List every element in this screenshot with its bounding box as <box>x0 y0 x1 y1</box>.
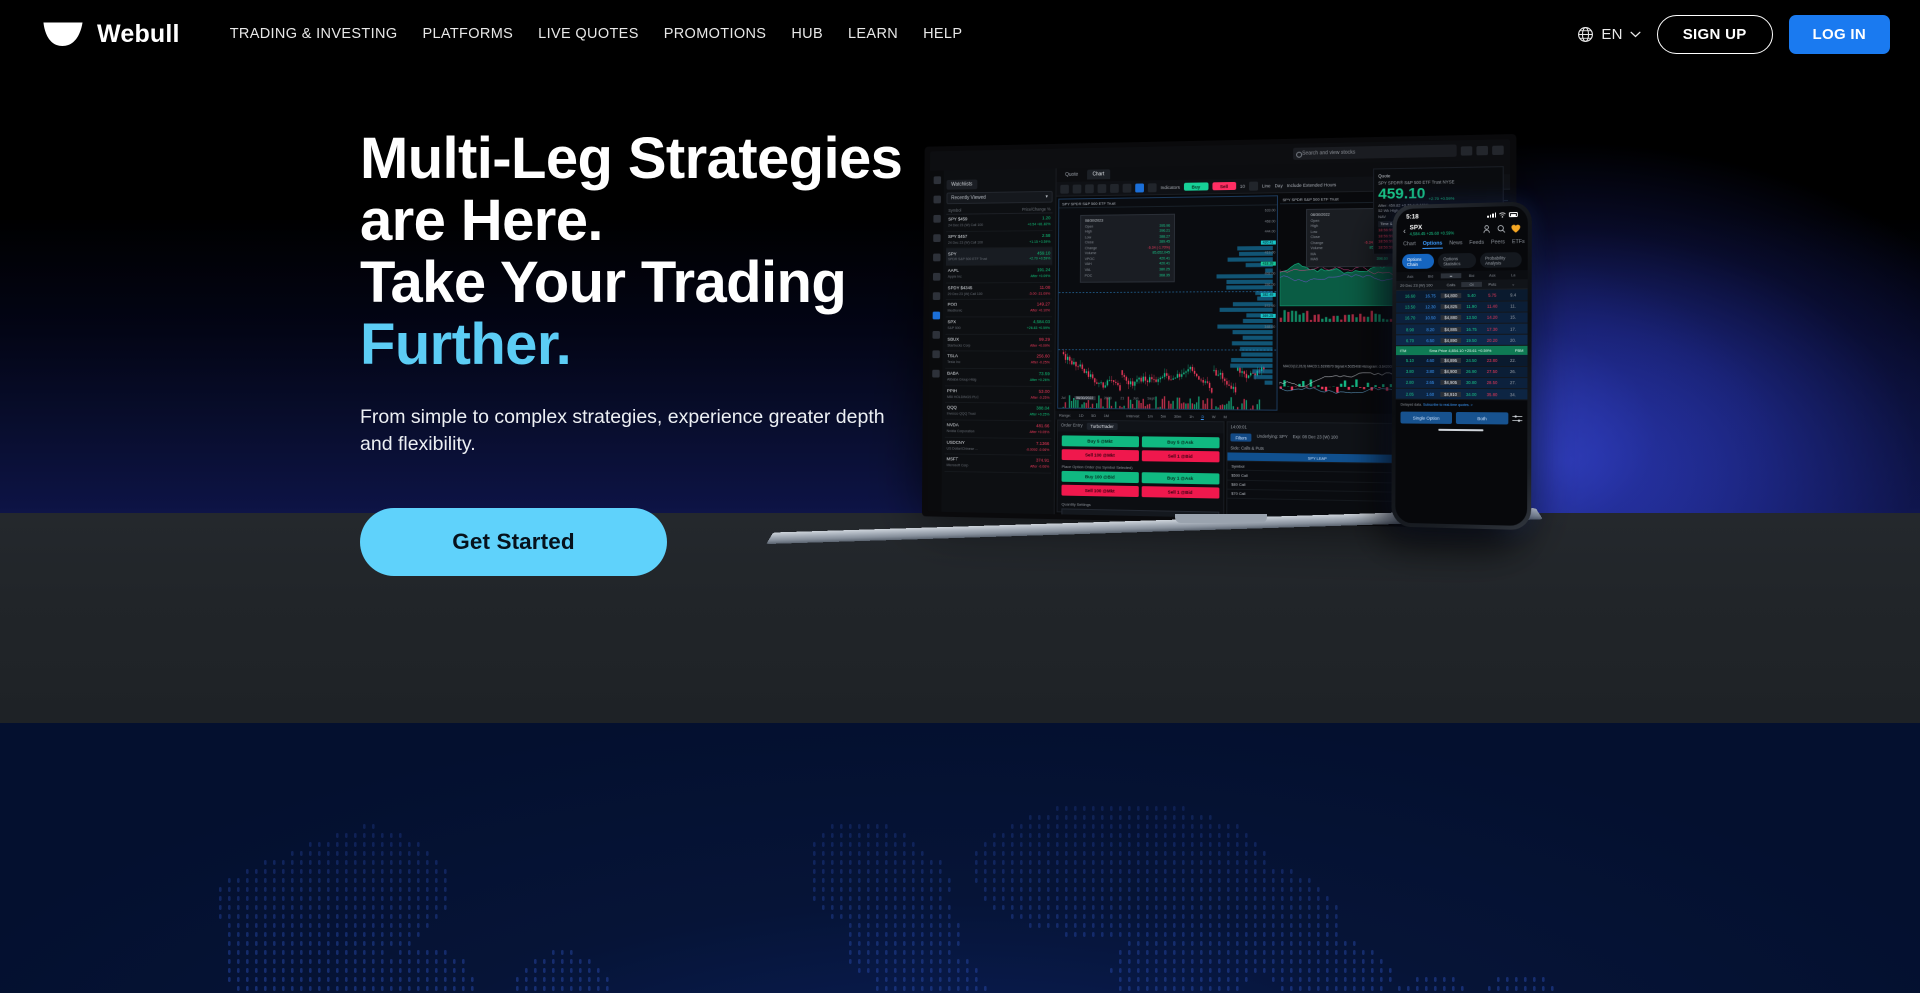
price-label: 444.00 <box>1261 229 1276 233</box>
call-bid: 12.30 <box>1420 305 1440 310</box>
call-bid: 8.20 <box>1420 327 1440 332</box>
text-icon[interactable] <box>1085 184 1094 193</box>
watchlist-change: After +0.09% <box>1030 274 1050 279</box>
tooltip-key: POC <box>1085 273 1093 279</box>
opt-buy-bid-button[interactable]: Buy 100 @Bid <box>1062 471 1139 483</box>
phone-footer: Single Option Both <box>1396 410 1528 427</box>
extended-hours-label[interactable]: Include Extended Hours <box>1287 182 1336 188</box>
headline-accent: Further. <box>360 312 571 377</box>
ts-time: 18:56:59 <box>1378 228 1393 232</box>
range-5d[interactable]: 5D <box>1091 413 1096 418</box>
strike-price: $4,880 <box>1441 315 1462 320</box>
laptop-hinge-notch <box>1175 514 1267 523</box>
watchlist-change: -0.0092 -0.06% <box>1026 447 1049 453</box>
put-ask: 11.40 <box>1482 304 1503 309</box>
get-started-button[interactable]: Get Started <box>360 508 667 576</box>
strike-price: $4,910 <box>1440 391 1461 396</box>
chart-date-axis: Jul 08/30/2022 2023 21 Jun Sept <box>1061 396 1155 401</box>
put-last: 22. <box>1503 358 1524 363</box>
phone-clock: 5:18 <box>1406 213 1419 220</box>
watchlist-change: +26.83 +0.59% <box>1027 326 1050 331</box>
put-last: 17. <box>1503 326 1524 331</box>
gear-icon[interactable] <box>1476 145 1488 154</box>
tab-order-entry[interactable]: Order Entry <box>1061 423 1083 430</box>
put-bid: 24.50 <box>1461 358 1482 363</box>
language-label: EN <box>1601 26 1622 43</box>
put-bid: 30.80 <box>1461 380 1482 385</box>
interval-w[interactable]: W <box>1212 414 1216 419</box>
put-bid: 13.50 <box>1461 315 1482 320</box>
phone-option-row[interactable]: 16.7010.50$4,88013.5014.2015. <box>1396 312 1528 324</box>
grid-icon[interactable] <box>1098 184 1107 193</box>
phone-option-row[interactable]: 2.802.65$4,90530.8028.5027. <box>1396 378 1528 390</box>
watchlist-change: After -0.25% <box>1031 395 1050 400</box>
price-label-poc: 382.49 <box>1261 293 1276 297</box>
sign-up-button[interactable]: SIGN UP <box>1657 15 1773 54</box>
top-navigation: Webull TRADING & INVESTINGPLATFORMSLIVE … <box>0 0 1920 68</box>
phone-screen: 5:18 <box>1395 206 1528 526</box>
search-icon[interactable] <box>1497 224 1506 233</box>
price-label: 468.00 <box>1261 219 1276 223</box>
watchlist-change: +1.15 +3.59% <box>1029 240 1050 245</box>
sliders-icon[interactable] <box>1512 414 1522 423</box>
both-button[interactable]: Both <box>1456 412 1508 425</box>
ts-time: 18:56:59 <box>1378 245 1393 249</box>
phone-symbol-change: 4,584.45 +25.60 +0.59% <box>1410 231 1455 237</box>
call-bid: 6.50 <box>1420 338 1440 343</box>
info-icon[interactable] <box>1135 183 1144 192</box>
log-in-button[interactable]: LOG IN <box>1789 15 1890 54</box>
price-label: 348.00 <box>1260 324 1275 328</box>
calendar-icon[interactable] <box>1492 145 1504 154</box>
sort-icon[interactable]: ⌄ <box>1503 282 1524 287</box>
expiry-label[interactable]: 29 Dec 23 (W) 100 <box>1400 283 1441 288</box>
price-label: 408.00 <box>1261 272 1276 276</box>
tooltip-value: 368.35 <box>1159 273 1170 279</box>
col-symbol: Symbol <box>1231 463 1244 468</box>
phone-tab-options[interactable]: Options <box>1423 241 1443 249</box>
tooltip-rows: Open395.96High396.21Low388.27Close389.45… <box>1085 223 1170 257</box>
tooltip-key: MA5 <box>1311 258 1318 264</box>
call-bid: 1.60 <box>1420 391 1440 396</box>
put-last: 34. <box>1502 392 1523 397</box>
headline-line-2: are Here. <box>360 188 603 253</box>
price-label: 633.00 <box>1261 208 1276 212</box>
nav-link-promotions[interactable]: PROMOTIONS <box>664 26 767 42</box>
col-bid: Bid <box>1420 274 1440 279</box>
call-ask: 6.70 <box>1400 338 1420 343</box>
phone-option-row[interactable]: 5.104.60$4,89524.5023.8022. <box>1396 355 1528 366</box>
tab-chart[interactable]: Chart <box>1087 169 1110 179</box>
wifi-icon <box>1499 212 1506 218</box>
put-ask: 35.80 <box>1482 392 1503 397</box>
ts-time: 18:56:59 <box>1378 239 1393 243</box>
phone-option-row[interactable]: 3.803.80$4,90026.9027.5026. <box>1396 367 1528 378</box>
webull-crescent-icon <box>41 19 86 49</box>
put-last: 9.4 <box>1503 292 1524 297</box>
chevron-left-icon[interactable]: ‹ <box>1403 226 1406 235</box>
quick-buy-ask-button[interactable]: Buy 5 @Ask <box>1141 436 1219 448</box>
period-label[interactable]: Day <box>1275 183 1283 188</box>
price-axis-labels: 633.00 468.00 444.00 420.41 419.00 418.3… <box>1260 208 1275 328</box>
trendline-icon[interactable] <box>1073 184 1082 193</box>
filters-button[interactable]: Filters <box>1230 433 1251 441</box>
call-ask: 8.90 <box>1400 327 1420 332</box>
put-last: 27. <box>1502 380 1523 385</box>
primary-chart: SPY SPDR S&P 500 ETF Trust <box>1057 195 1277 410</box>
opt-buy-ask-button[interactable]: Buy 1 @Ask <box>1141 472 1219 484</box>
side-label[interactable]: Side: Calls & Puts <box>1230 445 1263 450</box>
nav-link-trading-investing[interactable]: TRADING & INVESTING <box>230 26 398 42</box>
quote-row-key: NAV <box>1378 214 1386 218</box>
phone-tab-chart[interactable]: Chart <box>1403 242 1416 250</box>
phone-segment-options-chain[interactable]: Options Chain <box>1402 254 1434 269</box>
subscribe-link[interactable]: Subscribe to real-time quotes. > <box>1423 403 1473 407</box>
puts-label: Puts <box>1482 282 1503 287</box>
price-label: 372.00 <box>1261 303 1276 307</box>
watchlist-price: 11.08 <box>1029 285 1050 292</box>
watchlist-change: +2.70 +0.59% <box>1029 257 1050 262</box>
chevron-down-icon: ▾ <box>1045 194 1047 200</box>
put-bid: 16.75 <box>1461 327 1482 332</box>
nav-links: TRADING & INVESTINGPLATFORMSLIVE QUOTESP… <box>230 26 963 42</box>
interval-1m[interactable]: 1m <box>1148 414 1153 419</box>
brand-logo[interactable]: Webull <box>41 19 180 49</box>
option-symbol: $70 Call <box>1231 491 1245 496</box>
page-root: Search and view stocks <box>0 0 1920 993</box>
call-bid: 10.50 <box>1420 316 1440 321</box>
single-option-button[interactable]: Single Option <box>1400 412 1452 424</box>
put-ask: 28.50 <box>1482 380 1503 385</box>
range-1d[interactable]: 1D <box>1079 413 1084 418</box>
itm-right: PBM <box>1515 348 1524 353</box>
phone-option-rows-2: 5.104.60$4,89524.5023.8022.3.803.80$4,90… <box>1396 355 1528 400</box>
axis-date: 21 <box>1120 396 1124 400</box>
watchlist-change: After -0.06% <box>1030 465 1049 471</box>
watchlist-change: After +0.09% <box>1030 343 1050 348</box>
language-selector[interactable]: EN <box>1577 26 1640 43</box>
watchlist-change: After +0.05% <box>1030 430 1050 436</box>
put-ask: 27.50 <box>1482 369 1503 374</box>
phone-segment-control: Options ChainOptions StatisticsProbabili… <box>1396 249 1527 272</box>
put-ask: 17.30 <box>1482 326 1503 331</box>
watchlist-col-price: Price/Change % <box>1022 207 1051 212</box>
strike-price: $4,895 <box>1440 358 1461 363</box>
battery-icon <box>1509 212 1518 217</box>
axis-date: 2023 <box>1104 396 1112 400</box>
put-ask: 5.75 <box>1482 293 1503 298</box>
option-chain-timestamp: 14:00:01 <box>1230 424 1246 429</box>
nav-right-actions: EN SIGN UP LOG IN <box>1577 15 1890 54</box>
watchlist-price: 4,584.03 <box>1027 319 1050 326</box>
interval-30m[interactable]: 30m <box>1174 414 1181 419</box>
phone-segment-probability-analysis[interactable]: Probability Analysis <box>1480 253 1522 269</box>
price-label-vwap: 418.39 <box>1261 261 1276 265</box>
tooltip-extra-rows: VPOC420.41VAH420.41VAL380.25POC368.35 <box>1085 256 1170 279</box>
watchlist-change: After +0.25% <box>1030 413 1050 418</box>
call-ask: 13.50 <box>1400 305 1420 310</box>
sell-button[interactable]: Sell <box>1212 182 1236 191</box>
signal-icon <box>1487 213 1495 218</box>
indicators-label[interactable]: Indicators <box>1160 184 1179 189</box>
quick-sell-bid-button[interactable]: Sell 1 @Bid <box>1141 450 1219 462</box>
target-icon[interactable] <box>1148 183 1157 192</box>
ts-time: 18:56:59 <box>1378 234 1393 238</box>
hero-subheading: From simple to complex strategies, exper… <box>360 404 920 458</box>
call-bid: 2.65 <box>1420 380 1440 385</box>
underlying-label[interactable]: Underlying: SPY <box>1257 434 1288 442</box>
phone-mockup: 5:18 <box>1391 202 1531 531</box>
put-bid: 11.90 <box>1461 304 1482 309</box>
col-last: La <box>1503 273 1524 278</box>
call-ask: 3.80 <box>1400 369 1420 374</box>
quick-buy-mkt-button[interactable]: Buy 5 @Mkt <box>1062 435 1139 447</box>
put-last: 15. <box>1503 315 1524 320</box>
brand-name: Webull <box>97 20 180 49</box>
strike-price: $4,885 <box>1441 327 1462 332</box>
chart-tooltip: 08/30/2023 Open395.96High396.21Low388.27… <box>1080 214 1175 283</box>
page-title: Multi-Leg Strategies are Here. Take Your… <box>360 128 980 376</box>
itm-left: ITM <box>1400 349 1407 354</box>
nav-link-help[interactable]: HELP <box>923 26 962 42</box>
tab-turbotrader[interactable]: TurboTrader <box>1086 423 1117 430</box>
phone-tab-news[interactable]: News <box>1449 241 1462 249</box>
layout-icon[interactable] <box>1249 181 1258 190</box>
calls-label: Calls <box>1441 283 1462 288</box>
itm-center: Sma Price 4,854.10 +25.61 +0.59% <box>1429 348 1491 353</box>
price-label-val: 369.25 <box>1260 314 1275 318</box>
strike-price: $4,905 <box>1440 380 1461 385</box>
interval-d[interactable]: D <box>1201 414 1204 420</box>
watchlist-change: After +0.26% <box>1030 378 1050 383</box>
table-row[interactable]: $70 Call <box>1227 489 1409 502</box>
phone-option-row[interactable]: 2.051.60$4,91034.0035.8034. <box>1396 389 1528 401</box>
option-symbol: $500 Call <box>1231 473 1247 478</box>
nav-link-live-quotes[interactable]: LIVE QUOTES <box>538 26 639 42</box>
tooltip-row: MA5398.60 <box>1311 257 1388 263</box>
tooltip-date: 08/30/2023 <box>1085 218 1170 223</box>
call-ask: 5.10 <box>1400 358 1420 363</box>
strike-price: $4,800 <box>1441 293 1462 298</box>
call-ask: 16.70 <box>1400 316 1420 321</box>
buy-button[interactable]: Buy <box>1184 182 1208 191</box>
qty-value[interactable]: 10 <box>1240 183 1245 188</box>
interval-5m[interactable]: 5m <box>1161 414 1166 419</box>
strike-price: $4,900 <box>1440 369 1461 374</box>
put-bid: 5.40 <box>1461 293 1482 298</box>
option-symbol: $80 Call <box>1231 482 1245 487</box>
option-chain-panel: 14:00:01 Filters Underlying: SPY Exp: 08… <box>1226 421 1410 519</box>
world-map-section <box>0 723 1920 993</box>
col-ask: Ask <box>1400 274 1420 279</box>
price-label: 396.00 <box>1261 282 1276 286</box>
nav-link-hub[interactable]: HUB <box>791 26 823 42</box>
axis-date: Jul <box>1061 396 1065 400</box>
watchlist-change: -5.00 -31.09% <box>1029 291 1050 296</box>
mail-icon[interactable] <box>1461 146 1472 155</box>
call-ask: 2.80 <box>1400 380 1420 385</box>
phone-tab-etfs[interactable]: ETFs <box>1512 239 1525 247</box>
range-1m[interactable]: 1M <box>1104 413 1109 418</box>
axis-date-highlight: 08/30/2022 <box>1074 396 1095 400</box>
globe-icon <box>1577 26 1594 43</box>
heart-icon[interactable] <box>1511 224 1521 233</box>
quote-card-title: Quote <box>1378 171 1498 178</box>
axis-date: Sept <box>1147 397 1154 401</box>
range-label: Range: <box>1059 413 1071 418</box>
call-ask: 2.05 <box>1400 391 1420 396</box>
phone-segment-options-statistics[interactable]: Options Statistics <box>1438 253 1476 269</box>
quote-card-price: 459.10 <box>1378 186 1425 202</box>
phone-status-icons <box>1487 211 1517 218</box>
put-last: 26. <box>1502 369 1523 374</box>
desktop-search-input[interactable]: Search and view stocks <box>1293 144 1457 159</box>
phone-itm-banner: ITM Sma Price 4,854.10 +25.61 +0.59% PBM <box>1396 346 1528 355</box>
expiration-label[interactable]: Exp: 08 Dec 23 (W) 100 <box>1293 434 1338 443</box>
put-last: 20. <box>1503 338 1524 343</box>
order-entry-panel: Order Entry TurboTrader Buy 5 @Mkt Buy 5… <box>1057 420 1225 516</box>
put-bid: 26.90 <box>1461 369 1482 374</box>
put-bid: 34.00 <box>1461 392 1482 397</box>
measure-icon[interactable] <box>1110 183 1119 192</box>
delay-text: Delayed data. <box>1401 403 1422 407</box>
call-ask: 16.60 <box>1400 294 1420 299</box>
put-ask: 20.20 <box>1482 338 1503 343</box>
watchlist-change: +0.54 +81.82% <box>1027 222 1050 228</box>
price-label-current: 420.41 <box>1261 240 1276 244</box>
tab-quote[interactable]: Quote <box>1059 170 1084 180</box>
call-bid: 4.60 <box>1420 358 1440 363</box>
line-type-label[interactable]: Line <box>1262 183 1271 188</box>
watchlist-change: After -0.25% <box>1031 361 1050 366</box>
order-quick-buttons-2: Buy 100 @Bid Buy 1 @Ask Sell 100 @Mkt Se… <box>1058 471 1224 503</box>
crosshair-icon[interactable] <box>1060 184 1069 193</box>
col-put-ask: Ask <box>1482 273 1503 278</box>
oi-label: OI <box>1461 282 1482 287</box>
chevron-down-icon <box>1630 31 1641 38</box>
phone-option-row[interactable]: 8.908.20$4,88516.7517.3017. <box>1396 324 1528 336</box>
price-label: 419.00 <box>1261 251 1276 255</box>
phone-header-icons <box>1483 224 1521 234</box>
phone-home-indicator <box>1438 429 1483 431</box>
cloud-icon[interactable] <box>1123 183 1132 192</box>
quick-sell-mkt-button[interactable]: Sell 100 @Mkt <box>1062 449 1139 461</box>
axis-date: Jun <box>1133 396 1139 400</box>
headline-line-3: Take Your Trading <box>360 250 846 315</box>
watchlist-change: After +0.10% <box>1030 309 1050 314</box>
quote-row-key: 52 Wk High <box>1378 209 1398 213</box>
quote-card-change: +2.70 +0.59% <box>1429 196 1455 201</box>
col-strike-toggle[interactable]: •• <box>1441 274 1462 279</box>
strike-price: $4,890 <box>1441 338 1462 343</box>
call-bid: 16.75 <box>1420 293 1440 298</box>
opt-sell-mkt-button[interactable]: Sell 100 @Mkt <box>1061 485 1138 497</box>
interval-1h[interactable]: 1h <box>1189 414 1193 419</box>
col-put-bid: Bid <box>1461 273 1482 278</box>
headline-line-1: Multi-Leg Strategies <box>360 126 902 191</box>
nav-link-platforms[interactable]: PLATFORMS <box>422 26 513 42</box>
device-mockups: Search and view stocks <box>880 140 1920 590</box>
strike-price: $4,825 <box>1441 304 1462 309</box>
phone-option-row[interactable]: 6.706.50$4,89019.5020.2020. <box>1396 335 1528 347</box>
phone-tab-feeds[interactable]: Feeds <box>1469 240 1484 248</box>
phone-tab-peers[interactable]: Peers <box>1491 240 1505 248</box>
order-quick-buttons: Buy 5 @Mkt Buy 5 @Ask Sell 100 @Mkt Sell… <box>1058 431 1224 466</box>
tooltip-value: 398.60 <box>1377 257 1388 263</box>
call-bid: 3.80 <box>1420 369 1440 374</box>
put-ask: 14.20 <box>1482 315 1503 320</box>
put-ask: 23.80 <box>1482 358 1503 363</box>
opt-sell-bid-button[interactable]: Sell 1 @Bid <box>1141 486 1219 498</box>
interval-label: Interval: <box>1126 413 1139 418</box>
add-person-icon[interactable] <box>1483 224 1492 233</box>
nav-link-learn[interactable]: LEARN <box>848 26 898 42</box>
hero-copy: Multi-Leg Strategies are Here. Take Your… <box>360 128 980 576</box>
interval-m[interactable]: M <box>1224 414 1227 419</box>
put-last: 11. <box>1503 304 1524 309</box>
tooltip-row: POC368.35 <box>1085 273 1170 279</box>
phone-option-rows: 16.6016.75$4,8005.405.759.413.5012.30$4,… <box>1396 290 1528 347</box>
put-bid: 19.50 <box>1461 338 1482 343</box>
world-map-dots <box>0 723 1920 993</box>
